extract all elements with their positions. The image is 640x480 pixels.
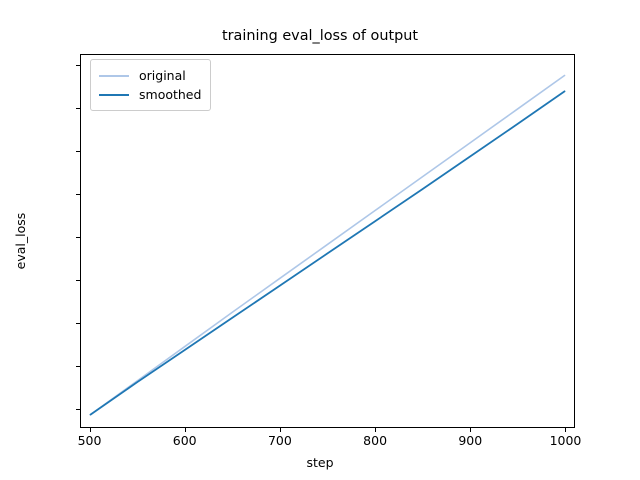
legend-item-original: original (99, 66, 201, 85)
chart-title: training eval_loss of output (0, 28, 640, 44)
x-tick-label: 600 (173, 433, 197, 448)
x-tick-label: 700 (268, 433, 292, 448)
legend-swatch-smoothed (99, 94, 129, 96)
line-series-original (90, 76, 564, 415)
legend: original smoothed (90, 59, 211, 111)
x-tick-mark (280, 428, 281, 432)
matplotlib-figure: training eval_loss of output eval_loss s… (0, 0, 640, 480)
legend-item-smoothed: smoothed (99, 85, 201, 104)
x-tick-label: 900 (458, 433, 482, 448)
x-tick-mark (90, 428, 91, 432)
x-tick-label: 800 (363, 433, 387, 448)
line-series-smoothed (90, 91, 564, 414)
x-tick-mark (470, 428, 471, 432)
legend-swatch-original (99, 75, 129, 77)
x-tick-mark (565, 428, 566, 432)
legend-label-smoothed: smoothed (139, 87, 201, 102)
y-axis-label: eval_loss (12, 54, 30, 428)
x-tick-label: 1000 (550, 433, 582, 448)
legend-label-original: original (139, 68, 186, 83)
x-axis-label: step (0, 455, 640, 470)
x-tick-label: 500 (78, 433, 102, 448)
x-tick-mark (185, 428, 186, 432)
x-tick-mark (375, 428, 376, 432)
